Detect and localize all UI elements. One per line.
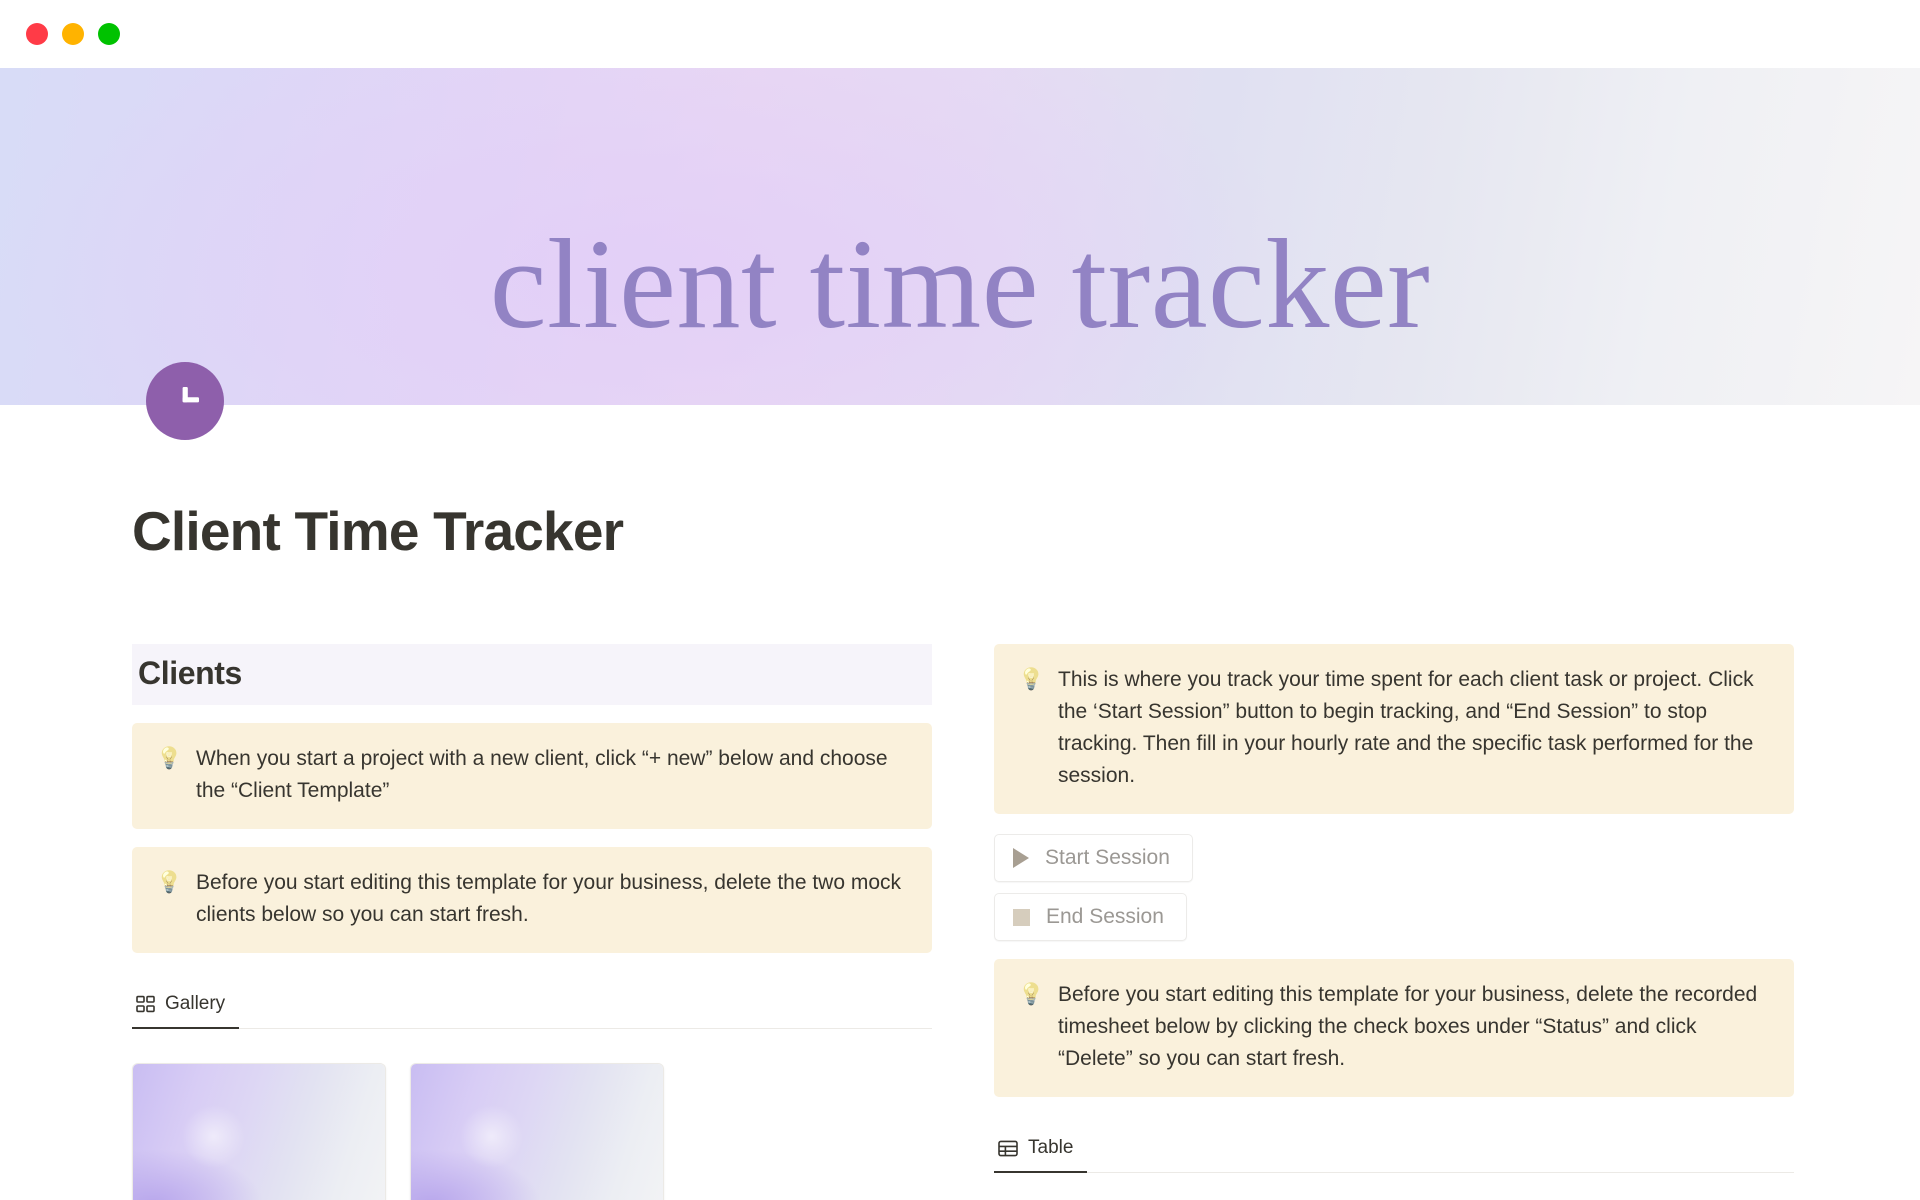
start-session-row: Start Session: [994, 834, 1794, 882]
tab-table-label: Table: [1028, 1137, 1073, 1159]
start-session-label: Start Session: [1045, 846, 1170, 870]
gallery-icon: [136, 995, 155, 1014]
callout-delete-timesheet: 💡 Before you start editing this template…: [994, 959, 1794, 1097]
card-cover-image: [133, 1064, 385, 1200]
callout-delete-mock-clients: 💡 Before you start editing this template…: [132, 847, 932, 953]
callout-text: This is where you track your time spent …: [1058, 664, 1772, 793]
gallery-card[interactable]: 😄 Mock Client 2: [410, 1063, 664, 1200]
session-button-group: Start Session End Session: [994, 834, 1794, 941]
banner-title-text: client time tracker: [0, 220, 1920, 348]
page-content: Client Time Tracker Clients 💡 When you s…: [0, 501, 1920, 1200]
end-session-label: End Session: [1046, 905, 1164, 929]
card-cover-image: [411, 1064, 663, 1200]
lightbulb-icon: 💡: [1018, 664, 1040, 793]
play-icon: [1013, 848, 1029, 868]
end-session-row: End Session: [994, 893, 1794, 941]
tab-gallery[interactable]: Gallery: [132, 987, 239, 1029]
start-session-button[interactable]: Start Session: [994, 834, 1193, 882]
time-tracking-column: 💡 This is where you track your time spen…: [994, 644, 1794, 1200]
clock-icon[interactable]: [146, 362, 224, 440]
window-title-bar: [0, 0, 1920, 68]
end-session-button[interactable]: End Session: [994, 893, 1187, 941]
minimize-window-button[interactable]: [62, 23, 84, 45]
maximize-window-button[interactable]: [98, 23, 120, 45]
two-column-layout: Clients 💡 When you start a project with …: [132, 644, 1788, 1200]
clients-gallery: 😄 Mock Client 1 😄 Mock Client 2: [132, 1063, 932, 1200]
callout-text: Before you start editing this template f…: [1058, 979, 1772, 1075]
table-icon: [998, 1139, 1018, 1158]
clients-column: Clients 💡 When you start a project with …: [132, 644, 932, 1200]
stop-icon: [1013, 909, 1030, 926]
lightbulb-icon: 💡: [156, 867, 178, 931]
clients-view-tabs: Gallery: [132, 987, 932, 1029]
callout-text: When you start a project with a new clie…: [196, 743, 910, 807]
callout-client-template: 💡 When you start a project with a new cl…: [132, 723, 932, 829]
timesheet-view-tabs: Table: [994, 1131, 1794, 1173]
gallery-card[interactable]: 😄 Mock Client 1: [132, 1063, 386, 1200]
lightbulb-icon: 💡: [1018, 979, 1040, 1075]
page-cover-banner: client time tracker: [0, 68, 1920, 405]
tab-table[interactable]: Table: [994, 1131, 1087, 1173]
lightbulb-icon: 💡: [156, 743, 178, 807]
close-window-button[interactable]: [26, 23, 48, 45]
page-title: Client Time Tracker: [132, 501, 1788, 562]
callout-text: Before you start editing this template f…: [196, 867, 910, 931]
tab-gallery-label: Gallery: [165, 993, 225, 1015]
callout-time-tracking-instructions: 💡 This is where you track your time spen…: [994, 644, 1794, 815]
clients-section-heading: Clients: [132, 644, 932, 705]
